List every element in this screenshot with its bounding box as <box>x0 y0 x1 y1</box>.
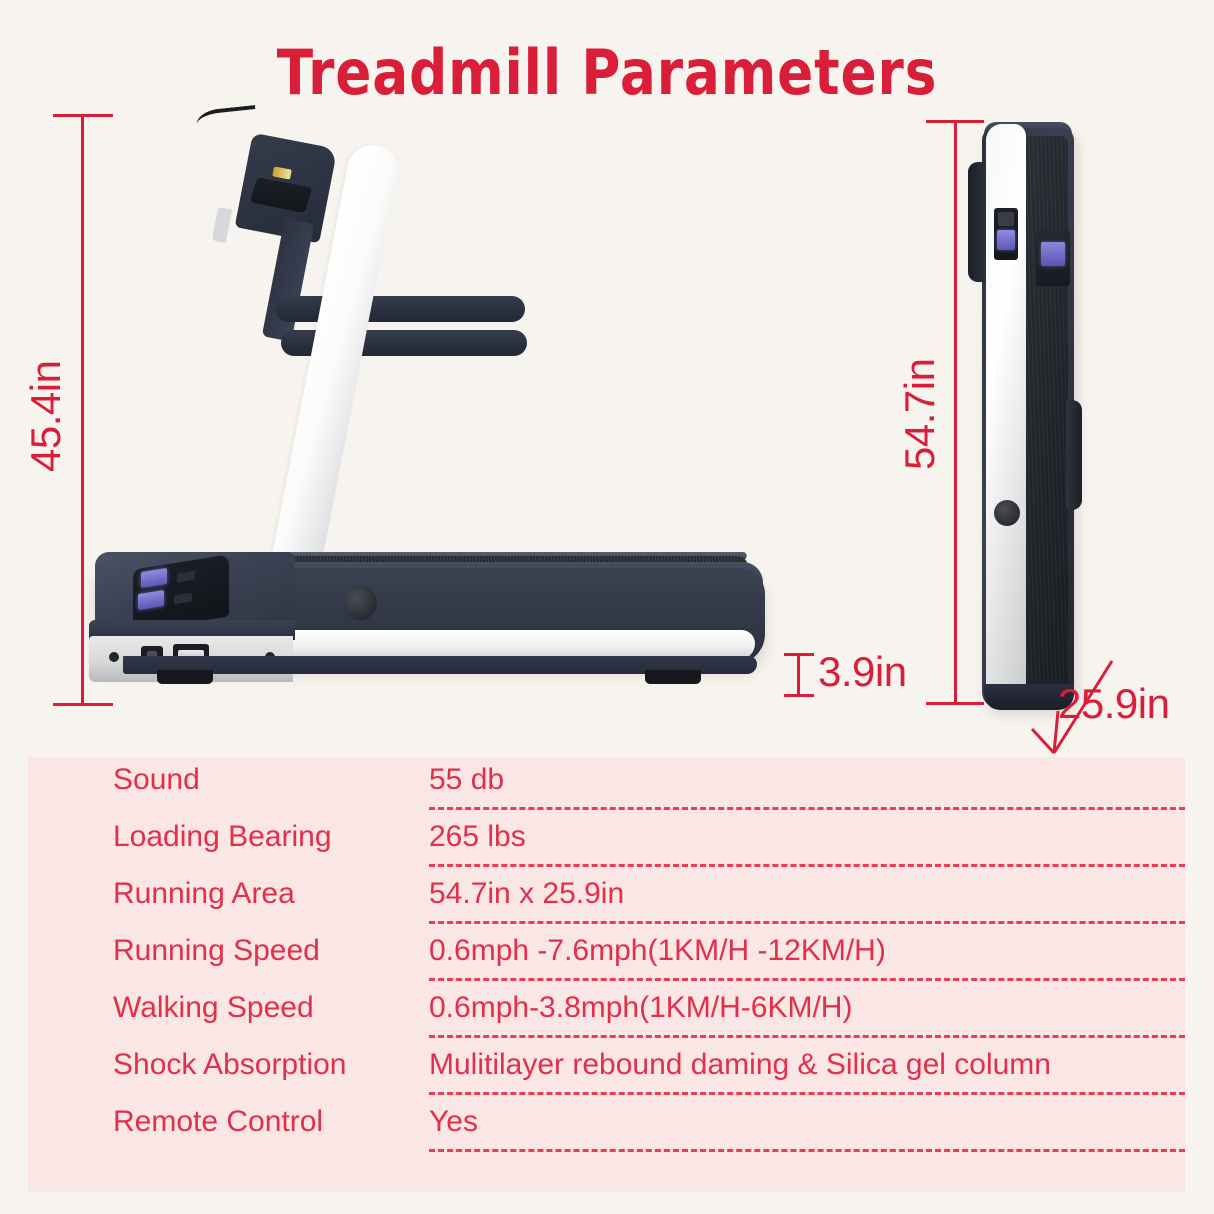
row-divider <box>429 921 1185 924</box>
i-beam-bottom <box>784 694 814 697</box>
dimension-label-deck-height: 3.9in <box>818 648 907 696</box>
spec-label: Shock Absorption <box>113 1048 346 1082</box>
spec-value: Mulitilayer rebound daming & Silica gel … <box>429 1048 1051 1082</box>
spec-label: Running Speed <box>113 934 320 968</box>
row-divider <box>429 1092 1185 1095</box>
dimension-label-width: 25.9in <box>1058 680 1169 728</box>
spec-value: Yes <box>429 1105 478 1139</box>
table-row: Loading Bearing 265 lbs <box>28 814 1185 871</box>
row-divider <box>429 1035 1185 1038</box>
table-row: Walking Speed 0.6mph-3.8mph(1KM/H-6KM/H) <box>28 985 1185 1042</box>
spec-value: 0.6mph -7.6mph(1KM/H -12KM/H) <box>429 934 886 968</box>
i-beam-stem <box>797 653 800 697</box>
dimension-label-height: 45.4in <box>22 361 70 472</box>
deck-foot-front <box>157 670 213 684</box>
spec-label: Walking Speed <box>113 991 314 1025</box>
treadmill-folded-view <box>960 100 1120 740</box>
table-row: Sound 55 db <box>28 757 1185 814</box>
spec-label: Remote Control <box>113 1105 323 1139</box>
spec-value: 0.6mph-3.8mph(1KM/H-6KM/H) <box>429 991 852 1025</box>
folded-handle-right <box>1066 400 1082 510</box>
dim-line <box>81 114 84 706</box>
spec-value: 54.7in x 25.9in <box>429 877 624 911</box>
row-divider <box>429 807 1185 810</box>
folded-folding-knob <box>994 500 1020 526</box>
dim-line <box>954 120 957 705</box>
treadmill-side-view <box>85 100 785 720</box>
spec-label: Sound <box>113 763 200 797</box>
row-divider <box>429 978 1185 981</box>
dim-cap-bottom <box>926 702 984 705</box>
table-row: Shock Absorption Mulitilayer rebound dam… <box>28 1042 1185 1099</box>
handlebar-riser <box>262 218 314 342</box>
folded-running-belt <box>1020 136 1068 696</box>
table-row: Running Area 54.7in x 25.9in <box>28 871 1185 928</box>
dimension-label-length: 54.7in <box>896 359 944 470</box>
post-clip <box>212 207 232 243</box>
row-divider <box>429 864 1185 867</box>
folding-knob <box>343 586 377 620</box>
product-spec-infographic: Treadmill Parameters <box>0 0 1214 1214</box>
page-title: Treadmill Parameters <box>85 36 1129 109</box>
product-illustration: 45.4in 3.9in 54.7in <box>0 100 1214 750</box>
spec-value: 265 lbs <box>429 820 526 854</box>
folded-console-screen <box>1036 230 1070 286</box>
screw-icon <box>109 652 119 662</box>
spec-label: Running Area <box>113 877 295 911</box>
dim-cap-bottom <box>53 703 113 706</box>
table-row: Remote Control Yes <box>28 1099 1185 1156</box>
folded-lcd-screen <box>994 208 1018 260</box>
handlebar-arm-upper <box>275 296 525 322</box>
row-divider <box>429 1149 1185 1152</box>
spec-label: Loading Bearing <box>113 820 332 854</box>
deck-foot-rear <box>645 670 701 684</box>
table-row: Running Speed 0.6mph -7.6mph(1KM/H -12KM… <box>28 928 1185 985</box>
spec-value: 55 db <box>429 763 504 797</box>
power-cord-icon <box>195 105 258 145</box>
spec-table: Sound 55 db Loading Bearing 265 lbs Runn… <box>28 757 1185 1192</box>
